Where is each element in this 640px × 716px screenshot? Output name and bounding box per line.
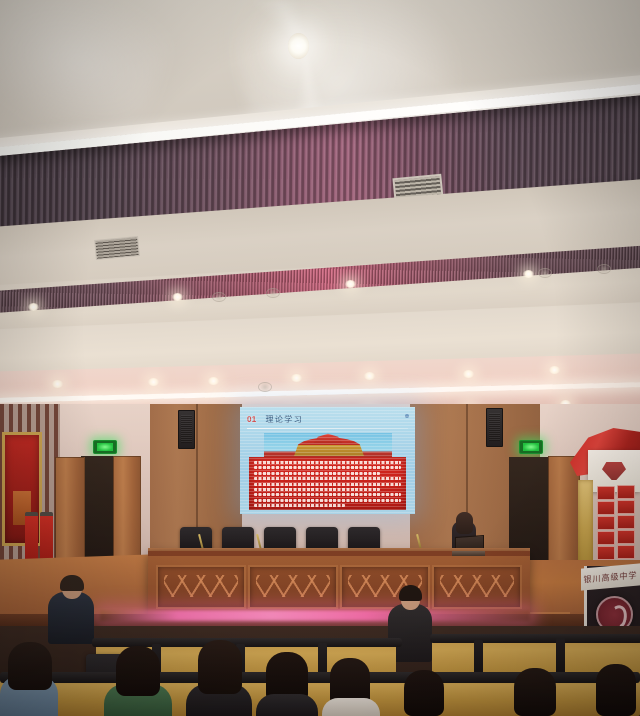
ac-vent-icon-secondary: [94, 236, 140, 260]
zigzag-relief: [256, 575, 330, 597]
name-tile: [617, 500, 635, 514]
podium-carved-panel: [156, 565, 246, 609]
projected-slide: 01 理论学习: [240, 407, 415, 514]
downlight-off: [538, 268, 552, 278]
audience-member-hair: [116, 646, 160, 696]
loudspeaker-icon: [178, 410, 195, 449]
slide-text-line: [254, 488, 380, 491]
standing-man-hair: [399, 585, 422, 601]
fire-extinguisher-icon: [25, 512, 38, 560]
podium-table: [148, 551, 530, 619]
ceiling-spotlight-icon: [288, 33, 309, 59]
podium-carved-panel: [432, 565, 522, 609]
projection-screen[interactable]: 01 理论学习: [240, 407, 415, 514]
name-tile: [597, 546, 615, 560]
slide-text-line: [254, 499, 401, 502]
name-tile: [597, 486, 615, 500]
downlight-off: [597, 264, 611, 274]
seat-back-rail: [430, 634, 640, 643]
audience-member-hair: [8, 642, 52, 690]
audience-member-body: [256, 694, 318, 716]
loudspeaker-icon: [486, 408, 503, 447]
slide-title: 理论学习: [266, 414, 304, 425]
name-tile: [617, 485, 635, 499]
exit-sign-left: [93, 440, 117, 454]
slide-text-line: [254, 477, 401, 480]
downlight: [549, 366, 560, 374]
exit-sign-right: [519, 440, 543, 454]
slide-text-line: [254, 504, 345, 507]
downlight: [345, 280, 356, 288]
slide-corner-logo-icon: [405, 414, 409, 418]
downlight: [148, 378, 159, 386]
downlight: [172, 293, 183, 301]
downlight: [523, 270, 534, 278]
audience-member-hair: [198, 640, 242, 694]
slide-text-line: [254, 493, 401, 496]
name-tile: [617, 515, 635, 529]
slide-header-rule: [247, 428, 408, 429]
downlight-off: [212, 292, 226, 302]
podium-carved-panel: [248, 565, 338, 609]
slide-text-line: [254, 461, 401, 464]
audience-member-hair: [514, 668, 556, 716]
downlight: [208, 377, 219, 385]
slide-text-line: [254, 466, 401, 469]
zigzag-relief: [164, 575, 238, 597]
slide-red-text-block: [249, 457, 406, 510]
slide-number: 01: [247, 415, 257, 424]
audience-member-body: [322, 698, 380, 716]
stage-edge-led-light: [100, 610, 530, 621]
auditorium-photo: 01 理论学习: [0, 0, 640, 716]
name-tile: [597, 501, 615, 515]
name-tile: [597, 531, 615, 545]
audience-member-hair: [404, 670, 444, 716]
laptop-base: [452, 551, 485, 556]
downlight: [463, 370, 474, 378]
downlight: [28, 303, 39, 311]
downlight-off: [258, 382, 272, 392]
name-tile: [617, 545, 635, 559]
audience-member-hair: [596, 664, 636, 716]
seated-man-body: [48, 592, 94, 644]
downlight: [364, 372, 375, 380]
zigzag-relief: [440, 575, 514, 597]
slide-text-line: [254, 472, 380, 475]
downlight-off: [266, 288, 280, 298]
fire-extinguisher-icon: [40, 512, 53, 560]
downlight: [52, 380, 63, 388]
downlight: [291, 374, 302, 382]
name-tile: [597, 516, 615, 530]
tiananmen-roof-shape: [310, 433, 346, 443]
name-tile: [617, 530, 635, 544]
lectern-sign-text: 银川高级中学: [584, 569, 638, 585]
slide-header: 01 理论学习: [247, 412, 408, 426]
presenter-hair: [456, 512, 473, 534]
seated-man-hair: [60, 575, 84, 591]
slide-text-line: [254, 483, 401, 486]
